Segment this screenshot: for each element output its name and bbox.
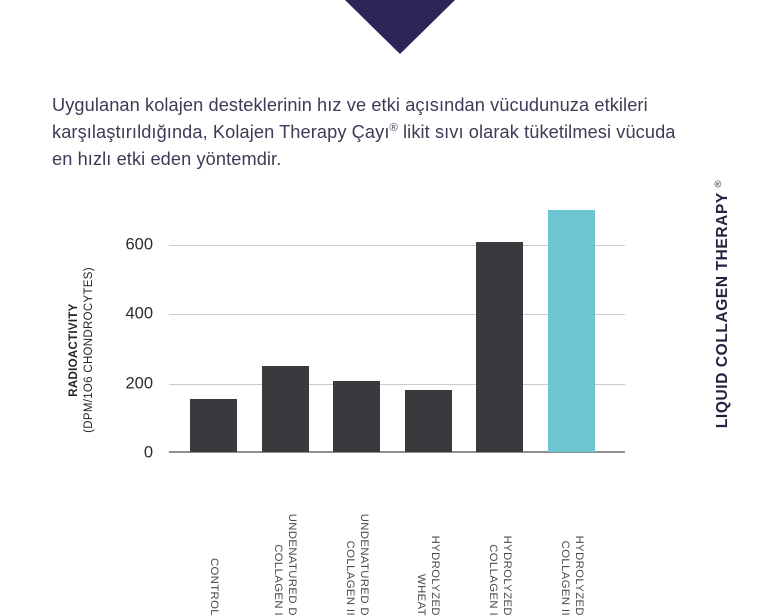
x-axis-category-label: HYDROLYZED COLLAGEN II [558,466,586,616]
bar-2: UNDENATURED D COLLAGEN II [333,381,380,452]
bar-0: CONTROL [190,399,237,452]
bar-chart: RADIOACTIVITY (DPM/1O6 CHONDROCYTES) 020… [0,155,767,607]
intro-line-2b: likit sıvı olarak [398,122,519,142]
brand-callout-label: LIQUID COLLAGEN THERAPY ® [714,164,732,444]
bar-4: HYDROLYZED COLLAGEN I [476,242,523,452]
y-axis-title-sub: (DPM/1O6 CHONDROCYTES) [82,230,97,470]
y-tick-label: 0 [144,444,153,463]
plot-area: 0200400600 CONTROLUNDENATURED D COLLAGEN… [169,200,625,453]
y-tick-label: 200 [125,374,153,393]
x-axis-category-label: HYDROLYZED WHEAT [414,466,442,616]
x-axis-category-label: UNDENATURED D COLLAGEN II [343,466,371,616]
x-axis-category-label: CONTROL [207,466,221,616]
y-axis-title-main: RADIOACTIVITY [67,230,82,470]
bar-1: UNDENATURED D COLLAGEN I [262,366,309,452]
bar-5: HYDROLYZED COLLAGEN II [548,210,595,452]
brand-callout-text: LIQUID COLLAGEN THERAPY [714,188,731,429]
registered-mark-icon: ® [713,180,724,188]
intro-line-1: Uygulanan kolajen desteklerinin hız ve e… [52,95,589,115]
x-axis-category-label: UNDENATURED D COLLAGEN I [271,466,299,616]
y-axis-title: RADIOACTIVITY (DPM/1O6 CHONDROCYTES) [67,230,97,470]
bar-3: HYDROLYZED WHEAT [405,390,452,452]
navy-triangle-accent [345,0,455,54]
y-tick-label: 600 [125,236,153,255]
registered-mark-icon: ® [389,122,397,134]
y-tick-label: 400 [125,305,153,324]
x-axis-category-label: HYDROLYZED COLLAGEN I [486,466,514,616]
